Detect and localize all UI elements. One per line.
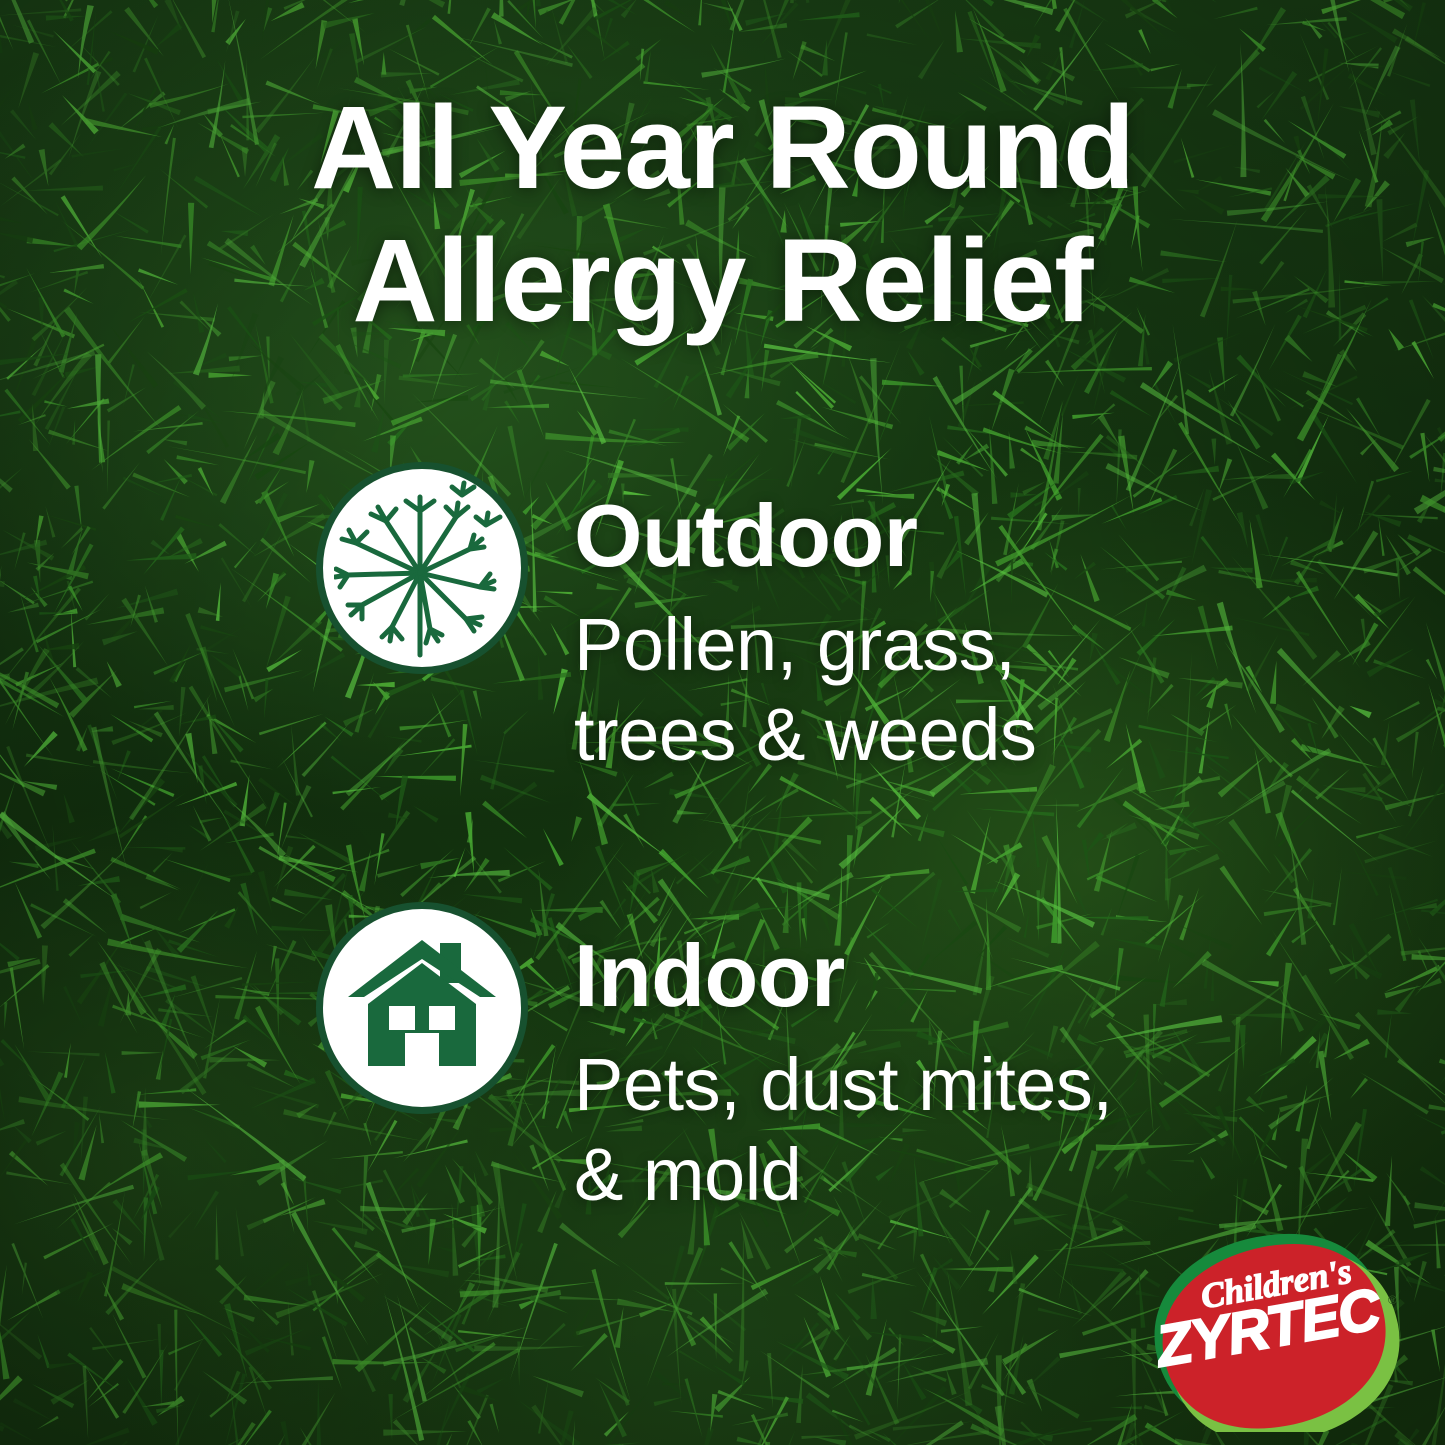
outdoor-desc-line-1: Pollen, grass, [574,600,1036,690]
brand-logo: Children's ZYRTEC ® [1138,1232,1438,1432]
headline-line-1: All Year Round [311,82,1134,214]
indoor-badge [316,902,528,1114]
headline-line-2: Allergy Relief [0,215,1445,348]
registered-trademark-icon: ® [1388,1293,1397,1307]
feature-row-indoor: Indoor Pets, dust mites, & mold [316,902,1112,1220]
outdoor-desc-line-2: trees & weeds [574,690,1036,780]
page-title: All Year Round Allergy Relief [0,82,1445,349]
outdoor-title: Outdoor [574,494,1036,578]
indoor-title: Indoor [574,934,1112,1018]
house-icon [347,938,497,1078]
indoor-desc-line-1: Pets, dust mites, [574,1040,1112,1130]
promo-image: All Year Round Allergy Relief [0,0,1445,1445]
indoor-text-block: Indoor Pets, dust mites, & mold [574,902,1112,1220]
outdoor-badge [316,462,528,674]
pollen-flower-icon [334,477,510,659]
feature-row-outdoor: Outdoor Pollen, grass, trees & weeds [316,462,1036,780]
indoor-desc-line-2: & mold [574,1130,1112,1220]
outdoor-description: Pollen, grass, trees & weeds [574,600,1036,781]
indoor-description: Pets, dust mites, & mold [574,1040,1112,1221]
outdoor-text-block: Outdoor Pollen, grass, trees & weeds [574,462,1036,780]
